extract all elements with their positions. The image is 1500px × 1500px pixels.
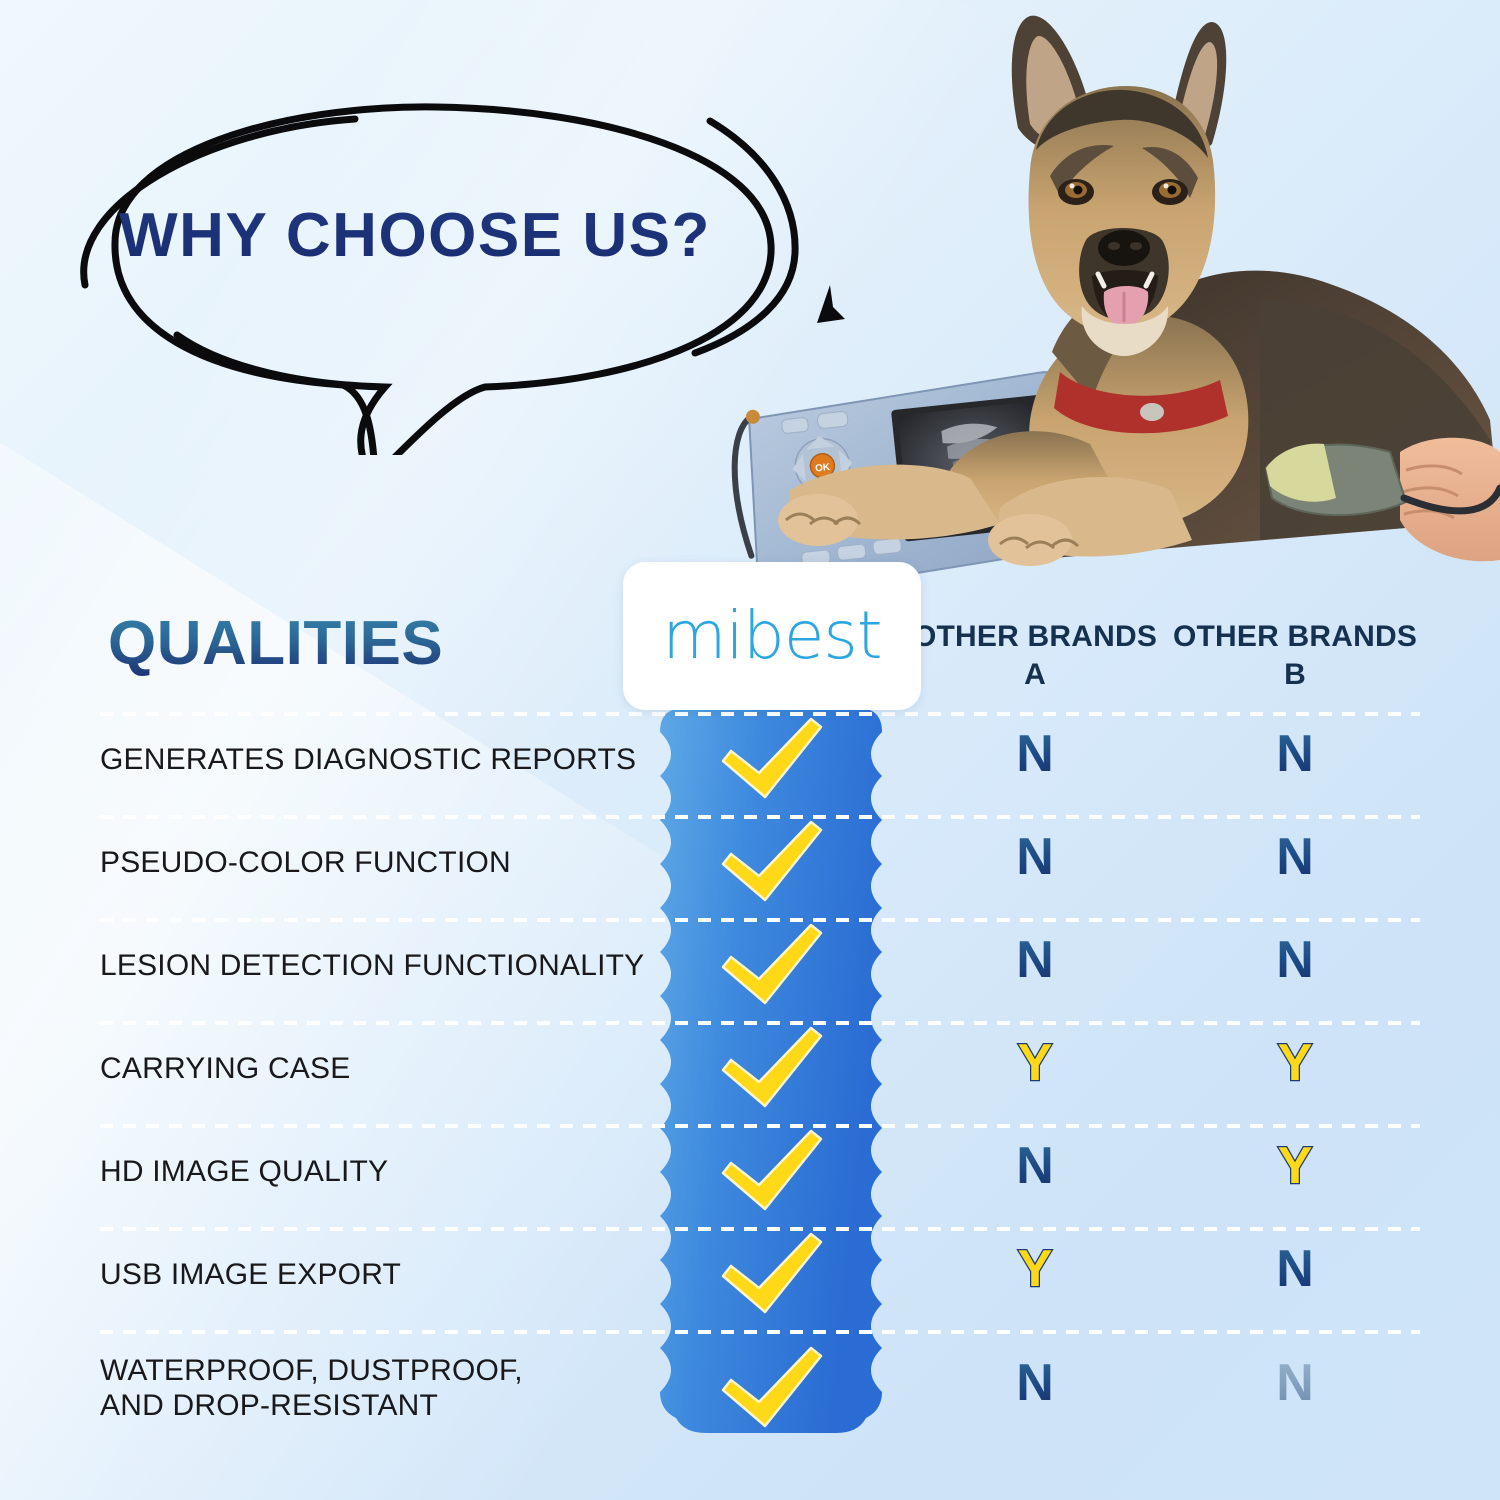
mibest-logo-card: mibest (623, 562, 921, 710)
mibest-check-cell (660, 717, 882, 803)
cell-a-value: N (905, 1136, 1165, 1196)
cell-a-value: N (905, 827, 1165, 887)
cell-b-value: N (1165, 930, 1425, 990)
table-row: GENERATES DIAGNOSTIC REPORTS NN (0, 708, 1500, 811)
cell-b-value: N (1165, 1239, 1425, 1299)
cell-a-value: N (905, 1353, 1165, 1413)
comparison-table: QUALITIES OTHER BRANDS A OTHER BRANDS B (0, 560, 1500, 1500)
row-feature-label: WATERPROOF, DUSTPROOF, AND DROP-RESISTAN… (100, 1353, 660, 1424)
cell-b-value: Y (1165, 1033, 1425, 1093)
check-icon (715, 1232, 827, 1318)
check-icon (715, 923, 827, 1009)
check-icon (715, 1129, 827, 1215)
column-header-brand-a: OTHER BRANDS A (905, 618, 1165, 695)
row-feature-label: LESION DETECTION FUNCTIONALITY (100, 948, 660, 983)
brand-a-sub: A (905, 656, 1165, 694)
row-feature-label: GENERATES DIAGNOSTIC REPORTS (100, 742, 660, 777)
table-row: LESION DETECTION FUNCTIONALITY NN (0, 914, 1500, 1017)
mibest-check-cell (660, 1129, 882, 1215)
cell-a-value: Y (905, 1239, 1165, 1299)
cell-b-value: N (1165, 827, 1425, 887)
infographic-page: WHY CHOOSE US? (0, 0, 1500, 1500)
table-row: WATERPROOF, DUSTPROOF, AND DROP-RESISTAN… (0, 1326, 1500, 1451)
mibest-check-cell (660, 820, 882, 906)
cell-b-value: N (1165, 724, 1425, 784)
cell-a-value: N (905, 724, 1165, 784)
page-title: WHY CHOOSE US? (55, 85, 775, 385)
column-header-brand-b: OTHER BRANDS B (1165, 618, 1425, 695)
mibest-logo-text: mibest (662, 603, 881, 669)
check-icon (715, 820, 827, 906)
cell-b-value: N (1165, 1353, 1425, 1413)
qualities-heading: QUALITIES (108, 608, 443, 679)
mibest-check-cell (660, 923, 882, 1009)
cell-a-value: N (905, 930, 1165, 990)
brand-b-label: OTHER BRANDS (1165, 618, 1425, 656)
device-ok-label: OK (815, 462, 832, 475)
table-row: HD IMAGE QUALITY NY (0, 1120, 1500, 1223)
check-icon (715, 1026, 827, 1112)
table-row: PSEUDO-COLOR FUNCTION NN (0, 811, 1500, 914)
brand-a-label: OTHER BRANDS (905, 618, 1165, 656)
check-icon (715, 717, 827, 803)
check-icon (715, 1346, 827, 1432)
mibest-check-cell (660, 1346, 882, 1432)
hero-photo-dog-ultrasound: OK (700, 0, 1500, 600)
hand-with-probe (1266, 438, 1500, 562)
comparison-rows: GENERATES DIAGNOSTIC REPORTS NNPSEUDO-CO… (0, 708, 1500, 1451)
cell-a-value: Y (905, 1033, 1165, 1093)
table-row: CARRYING CASE YY (0, 1017, 1500, 1120)
row-feature-label: USB IMAGE EXPORT (100, 1257, 660, 1292)
mibest-check-cell (660, 1026, 882, 1112)
row-feature-label: PSEUDO-COLOR FUNCTION (100, 845, 660, 880)
row-feature-label: HD IMAGE QUALITY (100, 1154, 660, 1189)
brand-b-sub: B (1165, 656, 1425, 694)
mibest-check-cell (660, 1232, 882, 1318)
table-row: USB IMAGE EXPORT YN (0, 1223, 1500, 1326)
row-feature-label: CARRYING CASE (100, 1051, 660, 1086)
cell-b-value: Y (1165, 1136, 1425, 1196)
